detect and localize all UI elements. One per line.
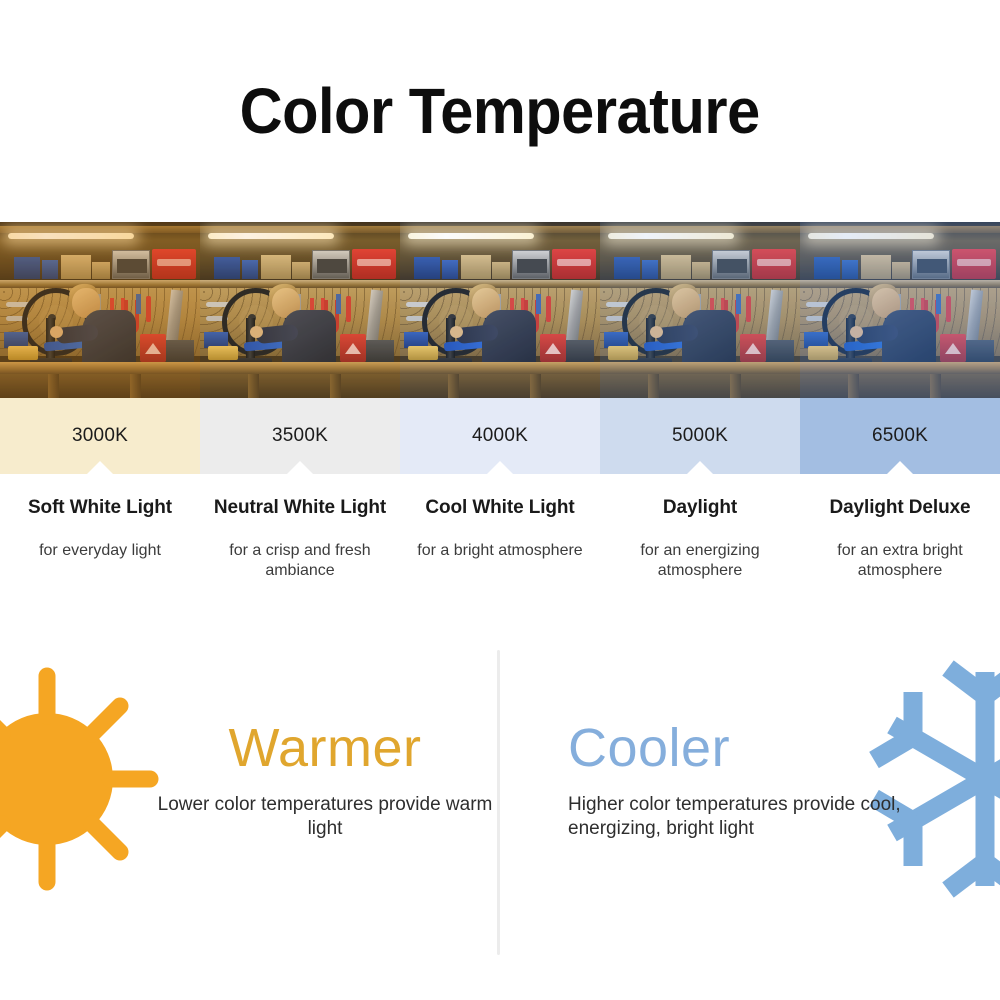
photo-panel-5000k <box>600 222 800 398</box>
photo-panel-4000k <box>400 222 600 398</box>
swatch-notch-6500k <box>887 461 913 474</box>
description-title-5000k: Daylight <box>663 496 737 519</box>
warm-cool-section: Warmer Lower color temperatures provide … <box>0 642 1000 1000</box>
swatch-4000k[interactable]: 4000K <box>400 398 600 474</box>
photo-panel-3000k <box>0 222 200 398</box>
title-section: Color Temperature <box>0 0 1000 222</box>
swatch-label-4000k: 4000K <box>472 425 528 447</box>
description-title-3000k: Soft White Light <box>28 496 172 519</box>
description-sub-6500k: for an extra bright atmosphere <box>810 541 990 581</box>
swatch-notch-3500k <box>287 461 313 474</box>
warmer-heading: Warmer <box>150 720 500 777</box>
swatch-5000k[interactable]: 5000K <box>600 398 800 474</box>
sun-icon <box>0 654 172 904</box>
description-column-3500k: Neutral White Light for a crisp and fres… <box>200 482 400 642</box>
description-title-3500k: Neutral White Light <box>214 496 386 519</box>
swatch-label-5000k: 5000K <box>672 425 728 447</box>
swatch-3500k[interactable]: 3500K <box>200 398 400 474</box>
swatch-label-3500k: 3500K <box>272 425 328 447</box>
swatch-6500k[interactable]: 6500K <box>800 398 1000 474</box>
workshop-photo-3500k <box>200 222 400 398</box>
warmer-block: Warmer Lower color temperatures provide … <box>150 720 500 842</box>
cooler-heading: Cooler <box>568 720 913 777</box>
description-title-6500k: Daylight Deluxe <box>829 496 970 519</box>
swatch-notch-4000k <box>487 461 513 474</box>
workshop-photo-4000k <box>400 222 600 398</box>
cooler-block: Cooler Higher color temperatures provide… <box>568 720 913 842</box>
workshop-photo-6500k <box>800 222 1000 398</box>
warmer-body-text: Lower color temperatures provide warm li… <box>150 793 500 842</box>
page-title: Color Temperature <box>240 79 760 143</box>
description-column-6500k: Daylight Deluxe for an extra bright atmo… <box>800 482 1000 642</box>
workshop-photo-5000k <box>600 222 800 398</box>
photo-panel-3500k <box>200 222 400 398</box>
cooler-body-text: Higher color temperatures provide cool, … <box>568 793 913 842</box>
description-column-4000k: Cool White Light for a bright atmosphere <box>400 482 600 642</box>
workshop-photo-3000k <box>0 222 200 398</box>
description-column-3000k: Soft White Light for everyday light <box>0 482 200 642</box>
swatch-label-3000k: 3000K <box>72 425 128 447</box>
description-sub-4000k: for a bright atmosphere <box>417 541 582 561</box>
description-sub-3500k: for a crisp and fresh ambiance <box>210 541 390 581</box>
description-sub-5000k: for an energizing atmosphere <box>610 541 790 581</box>
photo-comparison-strip <box>0 222 1000 398</box>
swatch-label-6500k: 6500K <box>872 425 928 447</box>
description-title-4000k: Cool White Light <box>425 496 574 519</box>
description-column-5000k: Daylight for an energizing atmosphere <box>600 482 800 642</box>
swatch-notch-3000k <box>87 461 113 474</box>
kelvin-swatch-band: 3000K 3500K 4000K 5000K 6500K <box>0 398 1000 474</box>
description-sub-3000k: for everyday light <box>39 541 161 561</box>
swatch-notch-5000k <box>687 461 713 474</box>
photo-panel-6500k <box>800 222 1000 398</box>
description-row: Soft White Light for everyday light Neut… <box>0 482 1000 642</box>
swatch-3000k[interactable]: 3000K <box>0 398 200 474</box>
